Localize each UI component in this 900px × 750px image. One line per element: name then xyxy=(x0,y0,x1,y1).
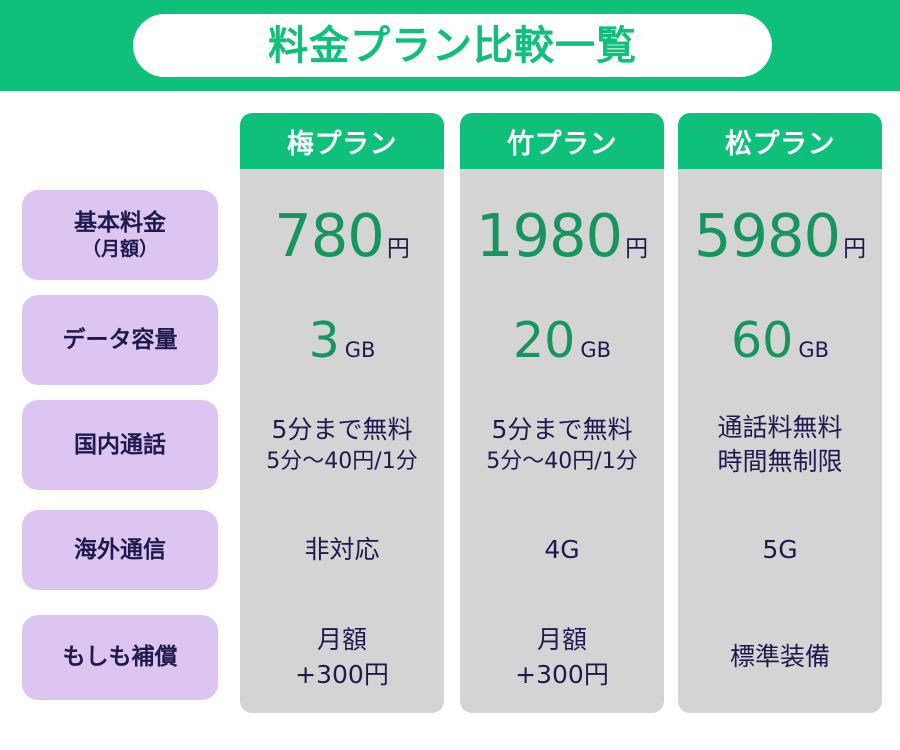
cell-take-insurance: 月額 +300円 xyxy=(460,615,664,700)
insurance-line-1: 標準装備 xyxy=(730,640,830,675)
cell-ume-basic-fee: 780 円 xyxy=(240,190,444,280)
call-line-2: 時間無制限 xyxy=(717,445,842,480)
data-value: 20 xyxy=(513,316,575,365)
insurance-line-2: +300円 xyxy=(515,658,609,693)
row-label-overseas: 海外通信 xyxy=(22,510,218,590)
cell-take-domestic-call: 5分まで無料 5分〜40円/1分 xyxy=(460,400,664,490)
data-line: 3 GB xyxy=(309,316,376,365)
price-line: 1980 円 xyxy=(476,206,648,265)
row-label-sub: （月額） xyxy=(82,238,158,262)
insurance-line-1: 月額 xyxy=(317,623,367,658)
cell-ume-overseas: 非対応 xyxy=(240,510,444,590)
cell-matsu-overseas: 5G xyxy=(678,510,882,590)
plan-name: 竹プラン xyxy=(507,122,617,161)
call-line-1: 5分まで無料 xyxy=(492,413,633,448)
price-value: 5980 xyxy=(694,206,840,265)
plan-column-matsu[interactable]: 松プラン 5980 円 60 GB 通話料無料 時間無制限 5G 標準装備 xyxy=(678,113,882,713)
row-label-data-capacity: データ容量 xyxy=(22,295,218,385)
call-line-1: 通話料無料 xyxy=(717,411,842,446)
comparison-board: 基本料金 （月額） データ容量 国内通話 海外通信 もしも補償 梅プラン 780… xyxy=(0,91,900,750)
row-label-basic-fee: 基本料金 （月額） xyxy=(22,190,218,280)
plan-column-take[interactable]: 竹プラン 1980 円 20 GB 5分まで無料 5分〜40円/1分 4G 月額… xyxy=(460,113,664,713)
cell-matsu-domestic-call: 通話料無料 時間無制限 xyxy=(678,400,882,490)
plan-name: 梅プラン xyxy=(287,122,397,161)
data-unit: GB xyxy=(345,340,376,361)
data-line: 20 GB xyxy=(513,316,611,365)
title-band: 料金プラン比較一覧 xyxy=(0,0,900,91)
cell-take-data-capacity: 20 GB xyxy=(460,295,664,385)
cell-take-basic-fee: 1980 円 xyxy=(460,190,664,280)
plan-header-take: 竹プラン xyxy=(460,113,664,169)
plan-column-ume[interactable]: 梅プラン 780 円 3 GB 5分まで無料 5分〜40円/1分 非対応 月額 … xyxy=(240,113,444,713)
title-pill: 料金プラン比較一覧 xyxy=(133,14,772,77)
price-value: 1980 xyxy=(476,206,622,265)
price-line: 780 円 xyxy=(274,206,410,265)
data-unit: GB xyxy=(580,340,611,361)
call-line-2: 5分〜40円/1分 xyxy=(266,447,417,477)
price-line: 5980 円 xyxy=(694,206,866,265)
cell-matsu-basic-fee: 5980 円 xyxy=(678,190,882,280)
row-label-main: データ容量 xyxy=(63,326,178,355)
plan-header-ume: 梅プラン xyxy=(240,113,444,169)
data-value: 60 xyxy=(731,316,793,365)
plan-name: 松プラン xyxy=(725,122,835,161)
row-label-main: 基本料金 xyxy=(74,209,166,238)
insurance-line-1: 月額 xyxy=(537,623,587,658)
price-unit: 円 xyxy=(387,238,410,261)
data-value: 3 xyxy=(309,316,340,365)
row-label-main: 国内通話 xyxy=(74,431,166,460)
cell-ume-insurance: 月額 +300円 xyxy=(240,615,444,700)
overseas-value: 非対応 xyxy=(304,533,379,568)
cell-matsu-data-capacity: 60 GB xyxy=(678,295,882,385)
overseas-value: 5G xyxy=(762,533,797,568)
row-label-column: 基本料金 （月額） データ容量 国内通話 海外通信 もしも補償 xyxy=(22,91,218,750)
insurance-line-2: +300円 xyxy=(295,658,389,693)
call-line-1: 5分まで無料 xyxy=(272,413,413,448)
row-label-main: 海外通信 xyxy=(74,536,166,565)
row-label-insurance: もしも補償 xyxy=(22,615,218,700)
overseas-value: 4G xyxy=(544,533,579,568)
cell-matsu-insurance: 標準装備 xyxy=(678,615,882,700)
cell-ume-domestic-call: 5分まで無料 5分〜40円/1分 xyxy=(240,400,444,490)
cell-ume-data-capacity: 3 GB xyxy=(240,295,444,385)
data-unit: GB xyxy=(798,340,829,361)
cell-take-overseas: 4G xyxy=(460,510,664,590)
call-line-2: 5分〜40円/1分 xyxy=(486,447,637,477)
data-line: 60 GB xyxy=(731,316,829,365)
price-unit: 円 xyxy=(843,238,866,261)
price-value: 780 xyxy=(274,206,384,265)
plan-header-matsu: 松プラン xyxy=(678,113,882,169)
page-title: 料金プラン比較一覧 xyxy=(268,26,637,66)
price-unit: 円 xyxy=(625,238,648,261)
row-label-main: もしも補償 xyxy=(63,643,178,672)
row-label-domestic-call: 国内通話 xyxy=(22,400,218,490)
